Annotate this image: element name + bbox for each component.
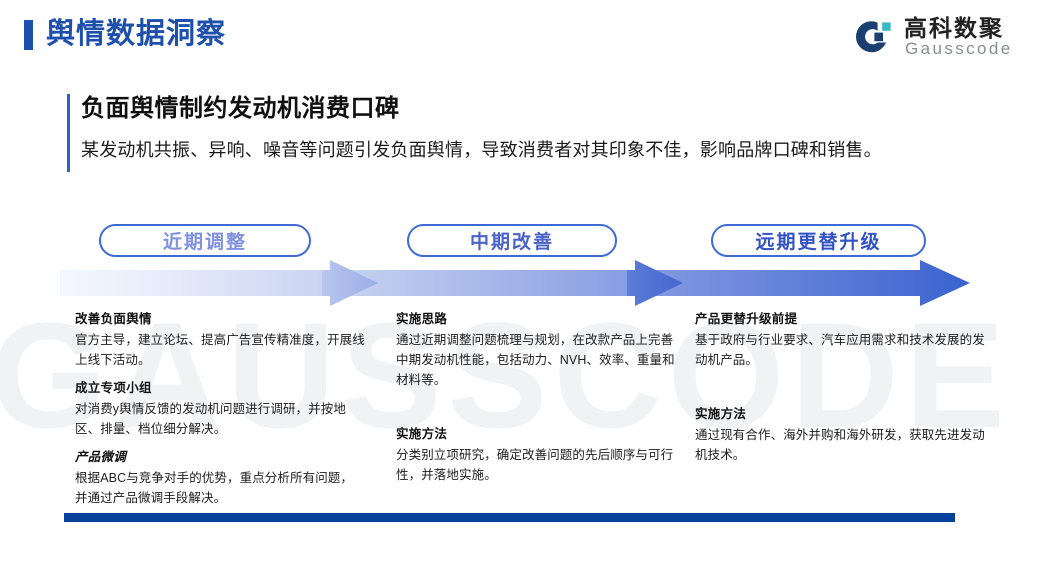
content-block: 实施方法 分类别立项研究，确定改善问题的先后顺序与可行性，并落地实施。 [396, 425, 678, 485]
content-block: 成立专项小组 对消费y舆情反馈的发动机问题进行调研，并按地区、排量、档位细分解决… [75, 379, 365, 439]
block-heading: 成立专项小组 [75, 379, 365, 398]
block-heading: 实施方法 [396, 425, 678, 444]
block-spacer [396, 399, 678, 425]
column-long-term: 产品更替升级前提 基于政府与行业要求、汽车应用需求和技术发展的发动机产品。 实施… [695, 310, 985, 474]
timeline-pill-long-term[interactable]: 远期更替升级 [711, 224, 926, 257]
logo-text-cn: 高科数聚 [904, 15, 1004, 41]
logo-text-en: Gausscode [905, 40, 1013, 58]
lead-title: 负面舆情制约发动机消费口碑 [81, 92, 400, 126]
gausscode-logo-icon [852, 18, 892, 56]
lead-accent-bar [67, 94, 70, 172]
block-body: 官方主导，建立论坛、提高广告宣传精准度，开展线上线下活动。 [75, 330, 365, 370]
block-body: 分类别立项研究，确定改善问题的先后顺序与可行性，并落地实施。 [396, 445, 678, 485]
block-body: 对消费y舆情反馈的发动机问题进行调研，并按地区、排量、档位细分解决。 [75, 399, 365, 439]
content-block: 实施方法 通过现有合作、海外并购和海外研发，获取先进发动机技术。 [695, 405, 985, 465]
block-heading: 改善负面舆情 [75, 310, 365, 329]
header-bullet-icon [24, 20, 33, 50]
block-heading: 实施思路 [396, 310, 678, 329]
lead-subtitle: 某发动机共振、异响、噪音等问题引发负面舆情，导致消费者对其印象不佳，影响品牌口碑… [81, 136, 882, 164]
block-body: 通过近期调整问题梳理与规划，在改款产品上完善中期发动机性能，包括动力、NVH、效… [396, 330, 678, 390]
page-title: 舆情数据洞察 [46, 14, 226, 54]
slide-root: GAUSSCODE 舆情数据洞察 高科数聚 Gausscode 负面舆情制约发动… [0, 0, 1050, 588]
content-block: 实施思路 通过近期调整问题梳理与规划，在改款产品上完善中期发动机性能，包括动力、… [396, 310, 678, 390]
block-body: 通过现有合作、海外并购和海外研发，获取先进发动机技术。 [695, 425, 985, 465]
column-near-term: 改善负面舆情 官方主导，建立论坛、提高广告宣传精准度，开展线上线下活动。 成立专… [75, 310, 365, 517]
content-columns: 改善负面舆情 官方主导，建立论坛、提高广告宣传精准度，开展线上线下活动。 成立专… [0, 310, 1050, 510]
timeline-arrow [60, 258, 980, 308]
footer-bar [64, 513, 955, 522]
column-mid-term: 实施思路 通过近期调整问题梳理与规划，在改款产品上完善中期发动机性能，包括动力、… [396, 310, 678, 494]
content-block: 产品更替升级前提 基于政府与行业要求、汽车应用需求和技术发展的发动机产品。 [695, 310, 985, 370]
content-block: 改善负面舆情 官方主导，建立论坛、提高广告宣传精准度，开展线上线下活动。 [75, 310, 365, 370]
content-block: 产品微调 根据ABC与竞争对手的优势，重点分析所有问题，并通过产品微调手段解决。 [75, 448, 365, 508]
block-body: 根据ABC与竞争对手的优势，重点分析所有问题，并通过产品微调手段解决。 [75, 468, 365, 508]
block-heading: 产品更替升级前提 [695, 310, 985, 329]
block-heading: 产品微调 [75, 448, 365, 467]
brand-logo: 高科数聚 Gausscode [852, 14, 1032, 60]
block-body: 基于政府与行业要求、汽车应用需求和技术发展的发动机产品。 [695, 330, 985, 370]
block-heading: 实施方法 [695, 405, 985, 424]
timeline-pill-near-term[interactable]: 近期调整 [99, 224, 311, 257]
slide-header: 舆情数据洞察 高科数聚 Gausscode [0, 0, 1050, 72]
block-spacer [695, 379, 985, 405]
timeline-pill-mid-term[interactable]: 中期改善 [407, 224, 617, 257]
